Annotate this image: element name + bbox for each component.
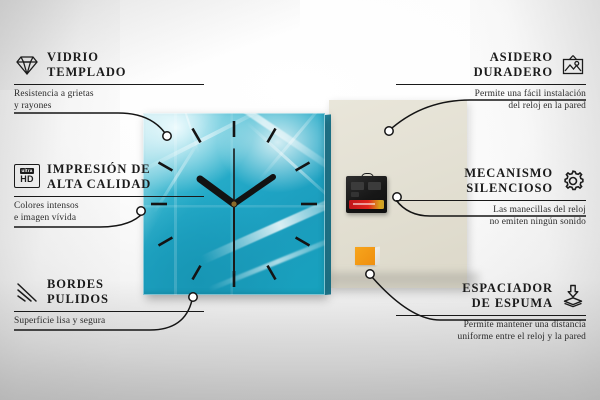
feature-title-line1: ASIDERO [474,50,553,65]
feature-title-line1: MECANISMO [464,166,553,181]
feature-rule [14,196,204,197]
feature-rule [14,311,204,312]
ultra-hd-icon-main: HD [20,175,33,184]
glass-edge-band [325,114,331,295]
foam-spacer-side [375,246,380,265]
ultra-hd-icon: ultra HD [14,164,40,190]
feature-title-line2: PULIDOS [47,292,109,307]
wall-hanger-frame-icon [560,52,586,78]
feature-rule [396,84,586,85]
feature-rule [14,84,204,85]
clock-mechanism [346,173,387,213]
feature-subtitle: Permite una fácil instalación del reloj … [396,88,586,113]
feature-title-line1: ESPACIADOR [462,281,553,296]
feature-subtitle: Superficie lisa y segura [14,315,204,327]
feature-title: ASIDERO DURADERO [474,50,553,81]
foam-spacer [355,247,375,265]
feature-title: BORDES PULIDOS [47,277,109,308]
feature-title-line2: DURADERO [474,65,553,80]
feature-title-line1: BORDES [47,277,109,292]
polished-edges-icon [14,279,40,305]
feature-subtitle: Permite mantener una distancia uniforme … [396,319,586,344]
feature-rule [396,315,586,316]
feature-title: IMPRESIÓN DE ALTA CALIDAD [47,162,151,193]
feature-title-line1: IMPRESIÓN DE [47,162,151,177]
feature-bordes-pulidos: BORDES PULIDOS Superficie lisa y segura [14,277,204,327]
feature-title: ESPACIADOR DE ESPUMA [462,281,553,312]
battery [349,200,384,209]
feature-mecanismo-silencioso: MECANISMO SILENCIOSO Las manecillas del … [396,166,586,228]
feature-title: MECANISMO SILENCIOSO [464,166,553,197]
feature-title-line2: SILENCIOSO [464,181,553,196]
feature-subtitle: Las manecillas del reloj no emiten ningú… [396,204,586,229]
diamond-icon [14,52,40,78]
product-infographic: VIDRIO TEMPLADO Resistencia a grietas y … [0,0,600,400]
foam-spacer-icon [560,283,586,309]
feature-rule [396,200,586,201]
feature-subtitle: Colores intensos e imagen vívida [14,200,204,225]
feature-subtitle: Resistencia a grietas y rayones [14,88,204,113]
feature-asidero-duradero: ASIDERO DURADERO Permite una fácil insta… [396,50,586,112]
feature-title: VIDRIO TEMPLADO [47,50,126,81]
feature-title-line2: ALTA CALIDAD [47,177,151,192]
feature-espaciador-de-espuma: ESPACIADOR DE ESPUMA Permite mantener un… [396,281,586,343]
feature-title-line2: DE ESPUMA [462,296,553,311]
feature-vidrio-templado: VIDRIO TEMPLADO Resistencia a grietas y … [14,50,204,112]
feature-title-line1: VIDRIO [47,50,126,65]
feature-title-line2: TEMPLADO [47,65,126,80]
gear-icon [560,168,586,194]
feature-impresion-alta-calidad: ultra HD IMPRESIÓN DE ALTA CALIDAD Color… [14,162,204,224]
